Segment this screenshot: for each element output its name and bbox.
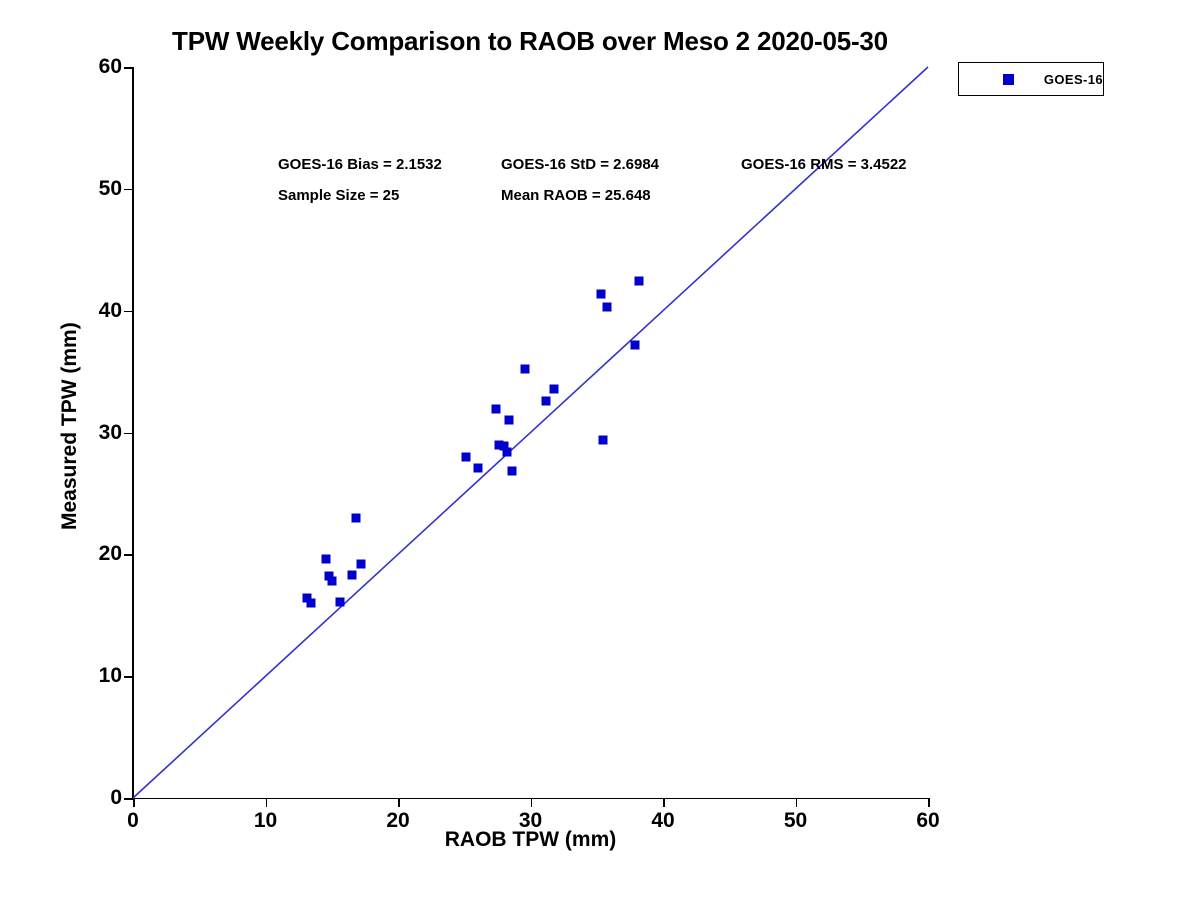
data-point-marker — [631, 340, 640, 349]
y-tick-mark — [124, 676, 133, 678]
data-point-marker — [502, 447, 511, 456]
data-point-marker — [603, 303, 612, 312]
x-tick-mark — [531, 798, 533, 807]
x-tick-mark — [796, 798, 798, 807]
legend-entry-goes16: GOES-16 — [959, 63, 1103, 95]
x-tick-mark — [663, 798, 665, 807]
legend-marker-icon — [1003, 74, 1014, 85]
x-tick-mark — [266, 798, 268, 807]
data-point-marker — [356, 560, 365, 569]
data-point-marker — [306, 599, 315, 608]
y-tick-label: 50 — [99, 177, 122, 201]
data-point-marker — [542, 396, 551, 405]
data-point-marker — [473, 463, 482, 472]
y-tick-mark — [124, 189, 133, 191]
y-axis-title: Measured TPW (mm) — [58, 322, 82, 530]
data-point-marker — [322, 555, 331, 564]
data-point-marker — [599, 435, 608, 444]
data-point-marker — [596, 289, 605, 298]
chart-legend[interactable]: GOES-16 — [958, 62, 1104, 96]
y-tick-label: 30 — [99, 421, 122, 445]
data-point-marker — [507, 467, 516, 476]
y-tick-mark — [124, 554, 133, 556]
scatter-series-goes16 — [133, 67, 928, 798]
plot-area: 0102030405060 0102030405060 GOES-16 Bias… — [133, 67, 928, 798]
y-tick-label: 0 — [110, 786, 122, 810]
data-point-marker — [461, 452, 470, 461]
data-point-marker — [492, 405, 501, 414]
x-tick-mark — [928, 798, 930, 807]
y-tick-label: 20 — [99, 542, 122, 566]
data-point-marker — [351, 513, 360, 522]
data-point-marker — [521, 365, 530, 374]
x-tick-mark — [133, 798, 135, 807]
x-axis-title: RAOB TPW (mm) — [133, 828, 928, 852]
data-point-marker — [505, 416, 514, 425]
data-point-marker — [635, 277, 644, 286]
data-point-marker — [347, 571, 356, 580]
y-tick-mark — [124, 311, 133, 313]
y-tick-label: 60 — [99, 55, 122, 79]
x-tick-mark — [398, 798, 400, 807]
chart-root: TPW Weekly Comparison to RAOB over Meso … — [0, 0, 1200, 900]
data-point-marker — [335, 597, 344, 606]
y-tick-mark — [124, 798, 133, 800]
legend-label: GOES-16 — [1044, 72, 1103, 87]
y-tick-mark — [124, 433, 133, 435]
chart-title: TPW Weekly Comparison to RAOB over Meso … — [0, 26, 1060, 57]
y-tick-label: 10 — [99, 664, 122, 688]
y-tick-label: 40 — [99, 299, 122, 323]
data-point-marker — [327, 577, 336, 586]
data-point-marker — [550, 384, 559, 393]
y-tick-mark — [124, 67, 133, 69]
